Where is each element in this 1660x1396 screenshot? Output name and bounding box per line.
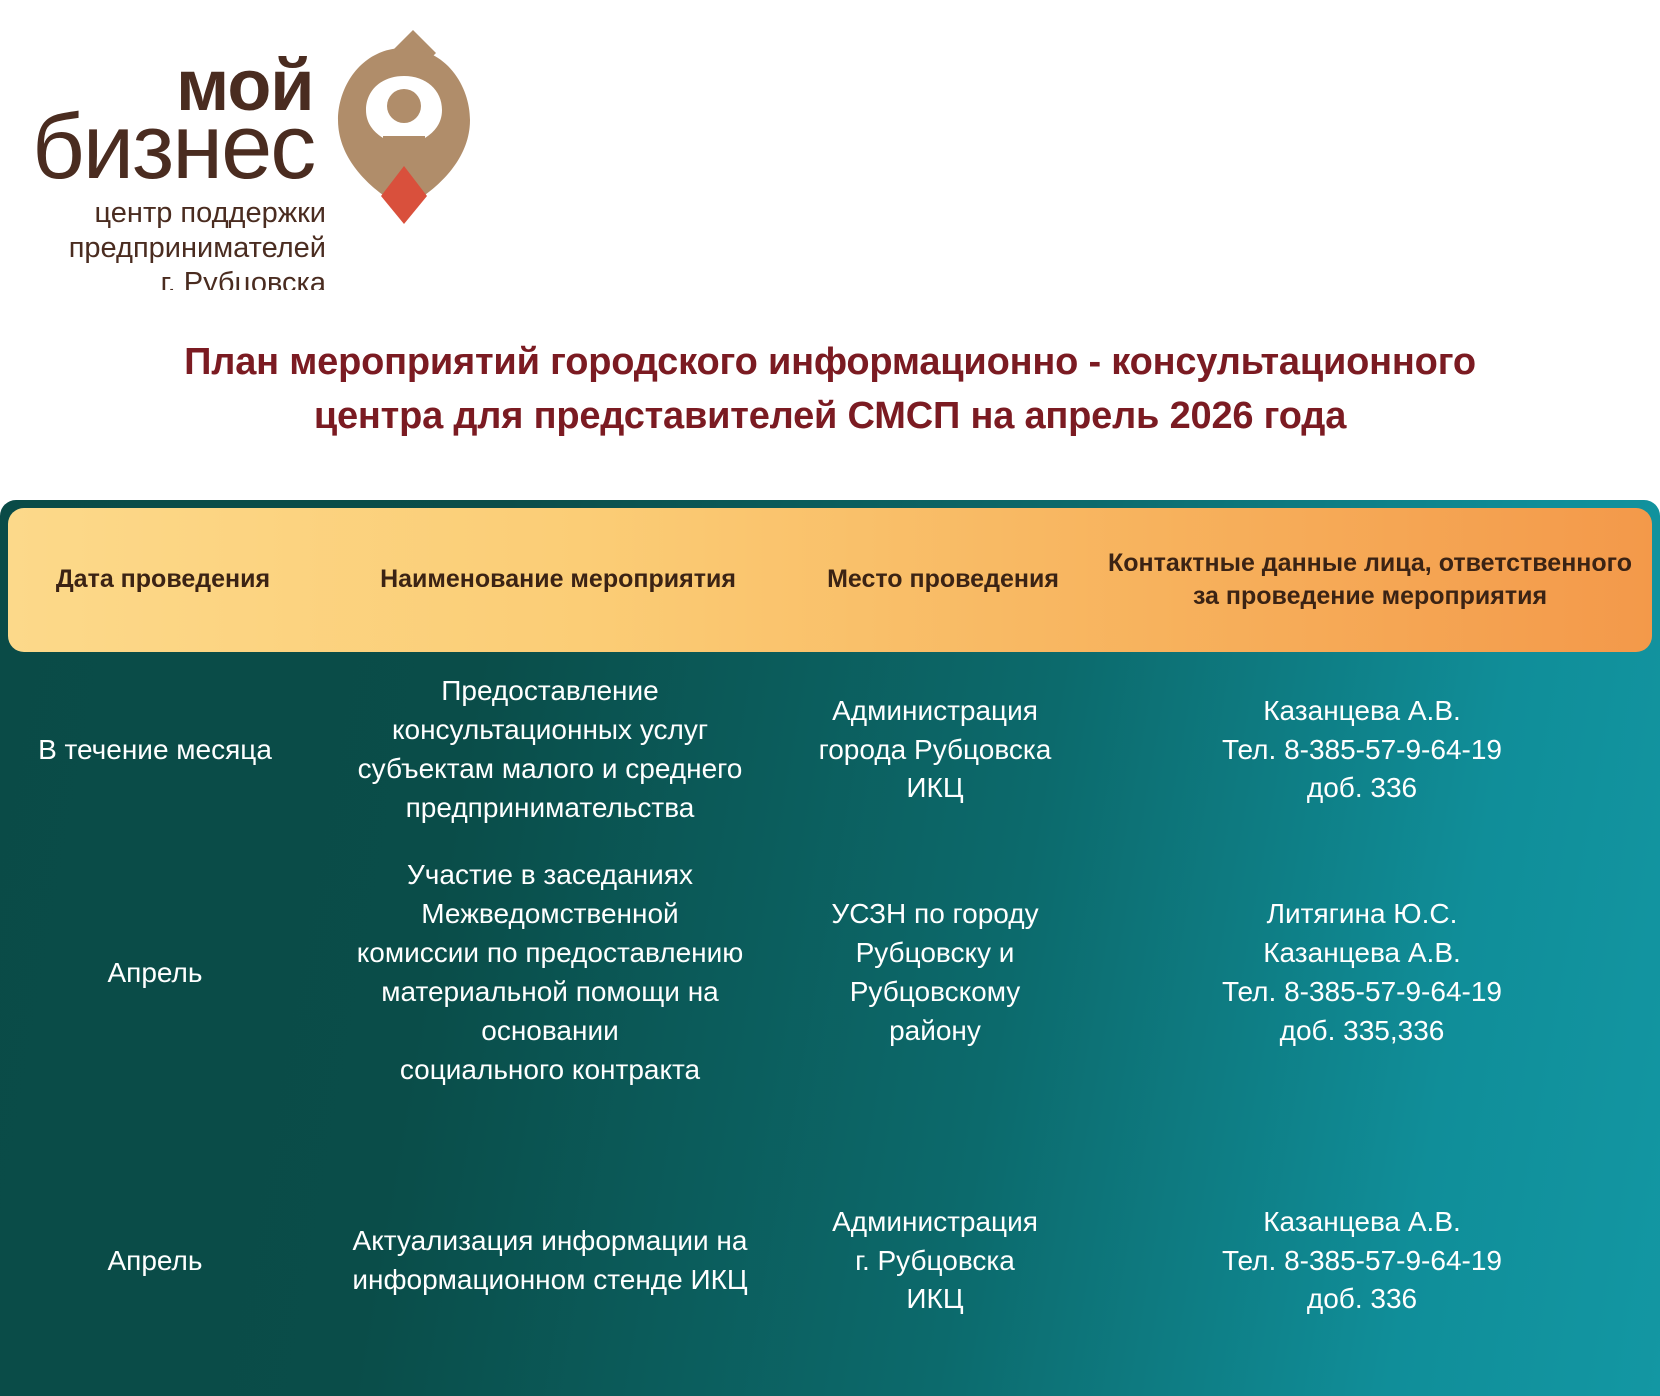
contact-line: Тел. 8-385-57-9-64-19 (1090, 731, 1634, 770)
contact-line: Казанцева А.В. (1090, 692, 1634, 731)
event-line: Участие в заседаниях (320, 856, 780, 895)
cell-date: Апрель (0, 1242, 310, 1281)
logo-svg: мой бизнес центр поддержки предпринимате… (28, 18, 498, 290)
cell-event: Участие в заседаниях Межведомственной ко… (310, 856, 790, 1089)
table-row: В течение месяца Предоставление консульт… (0, 656, 1660, 844)
page-title-line-1: План мероприятий городского информационн… (184, 341, 1476, 383)
event-line: материальной помощи на (320, 973, 780, 1012)
svg-text:г. Рубцовска: г. Рубцовска (161, 267, 327, 290)
column-header-date: Дата проведения (8, 563, 318, 597)
column-header-contact: Контактные данные лица, ответственного з… (1088, 547, 1652, 614)
cell-place: Администрация г. Рубцовска ИКЦ (790, 1203, 1080, 1320)
cell-place: УСЗН по городу Рубцовску и Рубцовскому р… (790, 895, 1080, 1051)
event-line: комиссии по предоставлению (320, 934, 780, 973)
schedule-table: В течение месяца Предоставление консульт… (0, 500, 1660, 1396)
cell-contact: Казанцева А.В. Тел. 8-385-57-9-64-19 доб… (1080, 1203, 1644, 1320)
event-line: информационном стенде ИКЦ (320, 1261, 780, 1300)
place-line: ИКЦ (800, 769, 1070, 808)
table-row: Апрель Участие в заседаниях Межведомстве… (0, 844, 1660, 1102)
column-header-event: Наименование мероприятия (318, 563, 798, 597)
page-title-line-2: центра для представителей СМСП на апрель… (60, 390, 1600, 444)
cell-event: Предоставление консультационных услуг су… (310, 672, 790, 828)
place-line: ИКЦ (800, 1280, 1070, 1319)
cell-contact: Литягина Ю.С. Казанцева А.В. Тел. 8-385-… (1080, 895, 1644, 1051)
table-row: Апрель Актуализация информации на информ… (0, 1168, 1660, 1354)
column-header-place: Место проведения (798, 563, 1088, 597)
event-line: субъектам малого и среднего (320, 750, 780, 789)
place-line: города Рубцовска (800, 731, 1070, 770)
cell-place: Администрация города Рубцовска ИКЦ (790, 692, 1080, 809)
event-line: предпринимательства (320, 789, 780, 828)
place-line: Рубцовскому (800, 973, 1070, 1012)
event-line: Межведомственной (320, 895, 780, 934)
contact-line: доб. 336 (1090, 1280, 1634, 1319)
page-title: План мероприятий городского информационн… (60, 336, 1600, 444)
cell-event: Актуализация информации на информационно… (310, 1222, 790, 1300)
contact-line: Тел. 8-385-57-9-64-19 (1090, 973, 1634, 1012)
place-line: Администрация (800, 692, 1070, 731)
place-line: УСЗН по городу (800, 895, 1070, 934)
contact-line: Казанцева А.В. (1090, 934, 1634, 973)
logo-pin-icon (338, 30, 470, 224)
place-line: Рубцовску и (800, 934, 1070, 973)
table-header-row: Дата проведения Наименование мероприятия… (8, 508, 1652, 652)
place-line: Администрация (800, 1203, 1070, 1242)
contact-line: доб. 335,336 (1090, 1012, 1634, 1051)
svg-text:бизнес: бизнес (32, 96, 314, 198)
event-line: Предоставление (320, 672, 780, 711)
event-line: основании (320, 1012, 780, 1051)
event-line: социального контракта (320, 1051, 780, 1090)
svg-text:предпринимателей: предпринимателей (69, 232, 326, 264)
document-header-area: мой бизнес центр поддержки предпринимате… (0, 0, 1660, 500)
contact-line: Литягина Ю.С. (1090, 895, 1634, 934)
event-line: Актуализация информации на (320, 1222, 780, 1261)
my-business-logo: мой бизнес центр поддержки предпринимате… (28, 18, 498, 290)
event-line: консультационных услуг (320, 711, 780, 750)
contact-line: Казанцева А.В. (1090, 1203, 1634, 1242)
cell-date: В течение месяца (0, 731, 310, 770)
contact-line: доб. 336 (1090, 769, 1634, 808)
cell-contact: Казанцева А.В. Тел. 8-385-57-9-64-19 доб… (1080, 692, 1644, 809)
svg-text:центр поддержки: центр поддержки (95, 197, 326, 229)
cell-date: Апрель (0, 954, 310, 993)
place-line: району (800, 1012, 1070, 1051)
place-line: г. Рубцовска (800, 1242, 1070, 1281)
contact-line: Тел. 8-385-57-9-64-19 (1090, 1242, 1634, 1281)
